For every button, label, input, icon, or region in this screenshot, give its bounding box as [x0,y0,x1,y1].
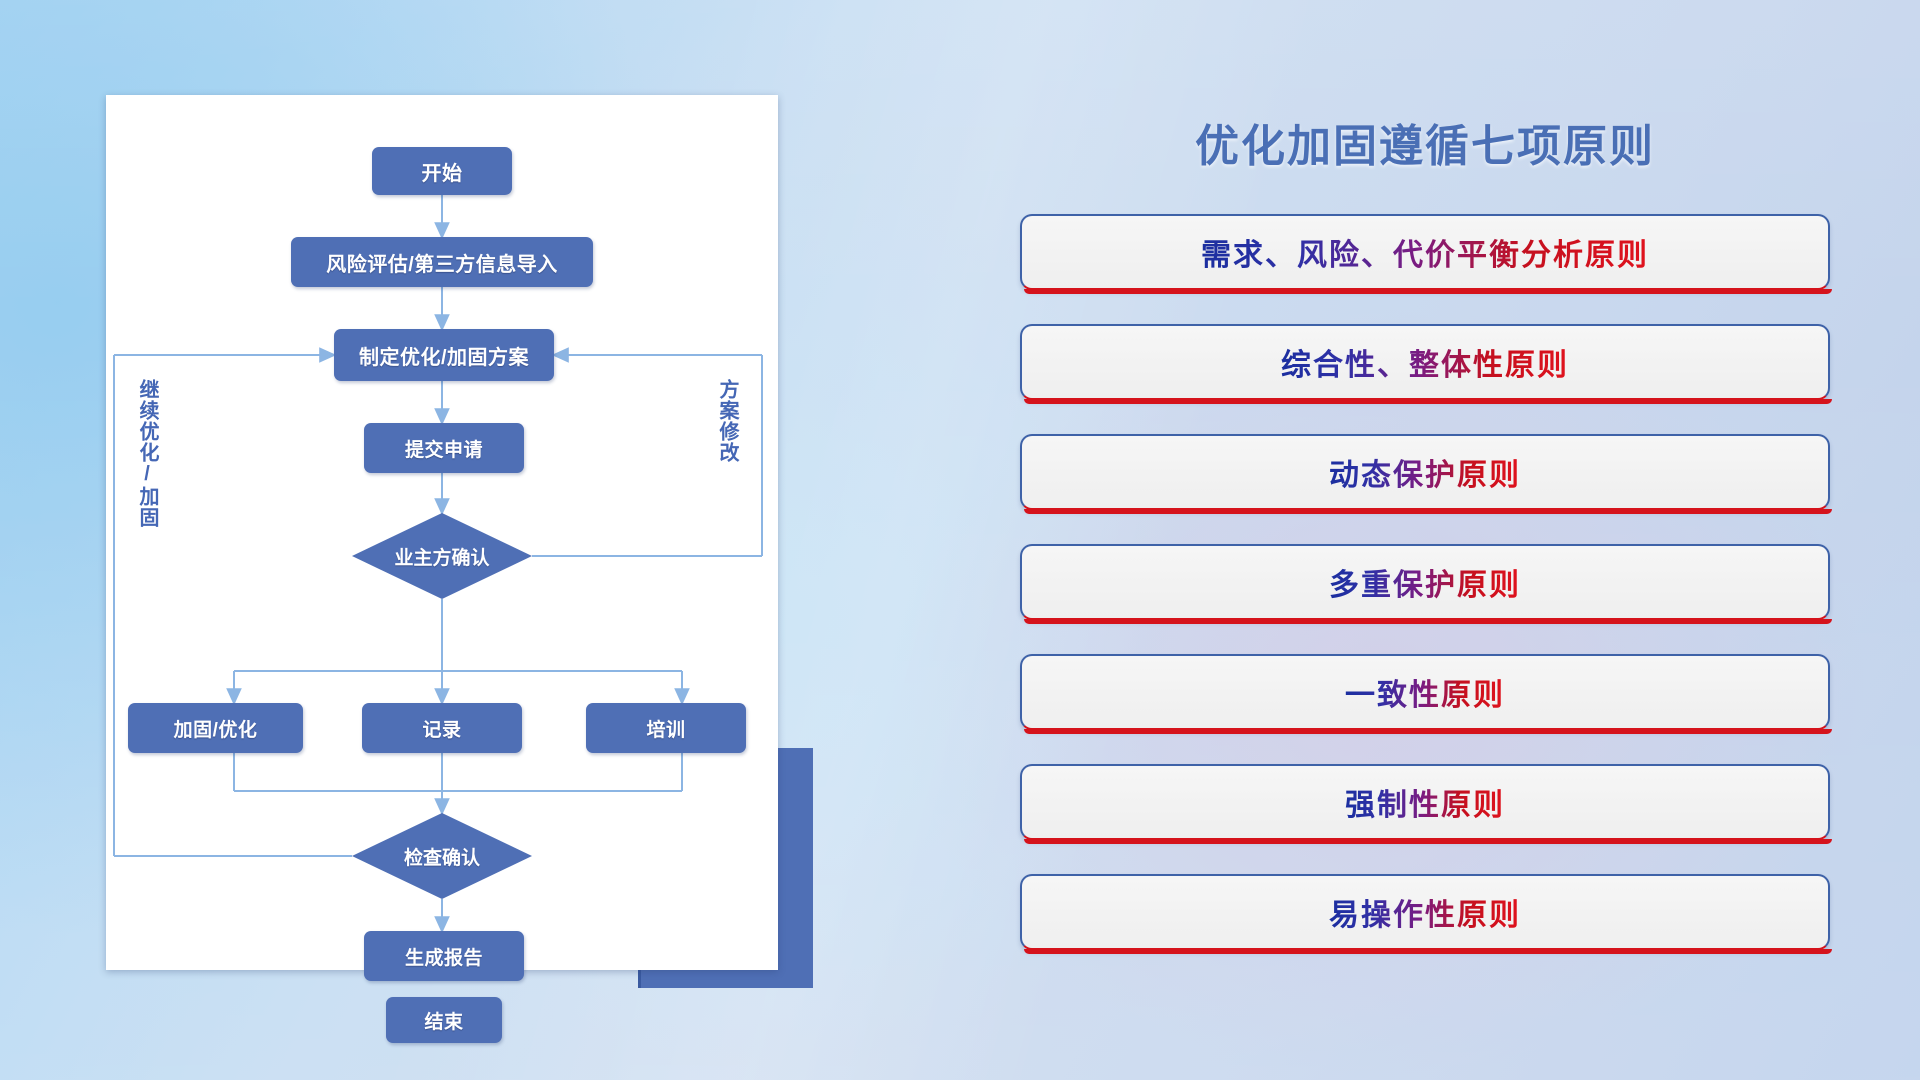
flow-edge-label-left-loop: 继续优化/加固 [136,379,157,528]
flow-node-reinforce[interactable]: 加固/优化 [128,703,303,753]
flow-node-start[interactable]: 开始 [372,147,512,195]
flow-node-submit-label: 提交申请 [405,435,483,462]
principle-label-2: 综合性、整体性原则 [1281,340,1569,384]
flow-node-owner-confirm-label: 业主方确认 [394,543,489,570]
flow-node-training-label: 培训 [646,715,685,742]
flow-node-owner-confirm[interactable]: 业主方确认 [352,513,532,599]
flow-edge-label-right-loop: 方案修改 [716,379,737,463]
principle-label-1: 需求、风险、代价平衡分析原则 [1201,230,1649,274]
principle-label-7: 易操作性原则 [1329,890,1521,934]
flow-node-start-label: 开始 [422,157,463,186]
principle-label-5: 一致性原则 [1345,670,1505,714]
flow-node-risk-intake-label: 风险评估/第三方信息导入 [326,248,558,277]
flow-node-check-confirm[interactable]: 检查确认 [352,813,532,899]
flowchart-card: 开始 风险评估/第三方信息导入 制定优化/加固方案 提交申请 业主方确认 加固/… [106,95,778,970]
principle-card-3[interactable]: 动态保护原则 [1020,434,1830,510]
principle-label-3: 动态保护原则 [1329,450,1521,494]
flow-node-end[interactable]: 结束 [386,997,502,1043]
flow-node-reinforce-label: 加固/优化 [174,715,258,742]
principle-card-1[interactable]: 需求、风险、代价平衡分析原则 [1020,214,1830,290]
principle-card-5[interactable]: 一致性原则 [1020,654,1830,730]
flow-node-record[interactable]: 记录 [362,703,522,753]
principle-label-4: 多重保护原则 [1329,560,1521,604]
flow-node-record-label: 记录 [422,715,461,742]
flow-node-submit[interactable]: 提交申请 [364,423,524,473]
flow-node-check-confirm-label: 检查确认 [404,843,480,870]
principle-card-6[interactable]: 强制性原则 [1020,764,1830,840]
flow-node-plan-label: 制定优化/加固方案 [359,341,529,370]
principle-card-4[interactable]: 多重保护原则 [1020,544,1830,620]
flow-node-risk-intake[interactable]: 风险评估/第三方信息导入 [291,237,593,287]
principle-label-6: 强制性原则 [1345,780,1505,824]
principle-card-2[interactable]: 综合性、整体性原则 [1020,324,1830,400]
principles-title: 优化加固遵循七项原则 [1020,110,1830,174]
principles-panel: 优化加固遵循七项原则 需求、风险、代价平衡分析原则 综合性、整体性原则 动态保护… [1020,110,1830,1000]
flow-node-end-label: 结束 [424,1007,463,1034]
flow-node-plan[interactable]: 制定优化/加固方案 [334,329,554,381]
principle-card-7[interactable]: 易操作性原则 [1020,874,1830,950]
flow-node-training[interactable]: 培训 [586,703,746,753]
flow-node-report[interactable]: 生成报告 [364,931,524,981]
flow-node-report-label: 生成报告 [405,943,483,970]
